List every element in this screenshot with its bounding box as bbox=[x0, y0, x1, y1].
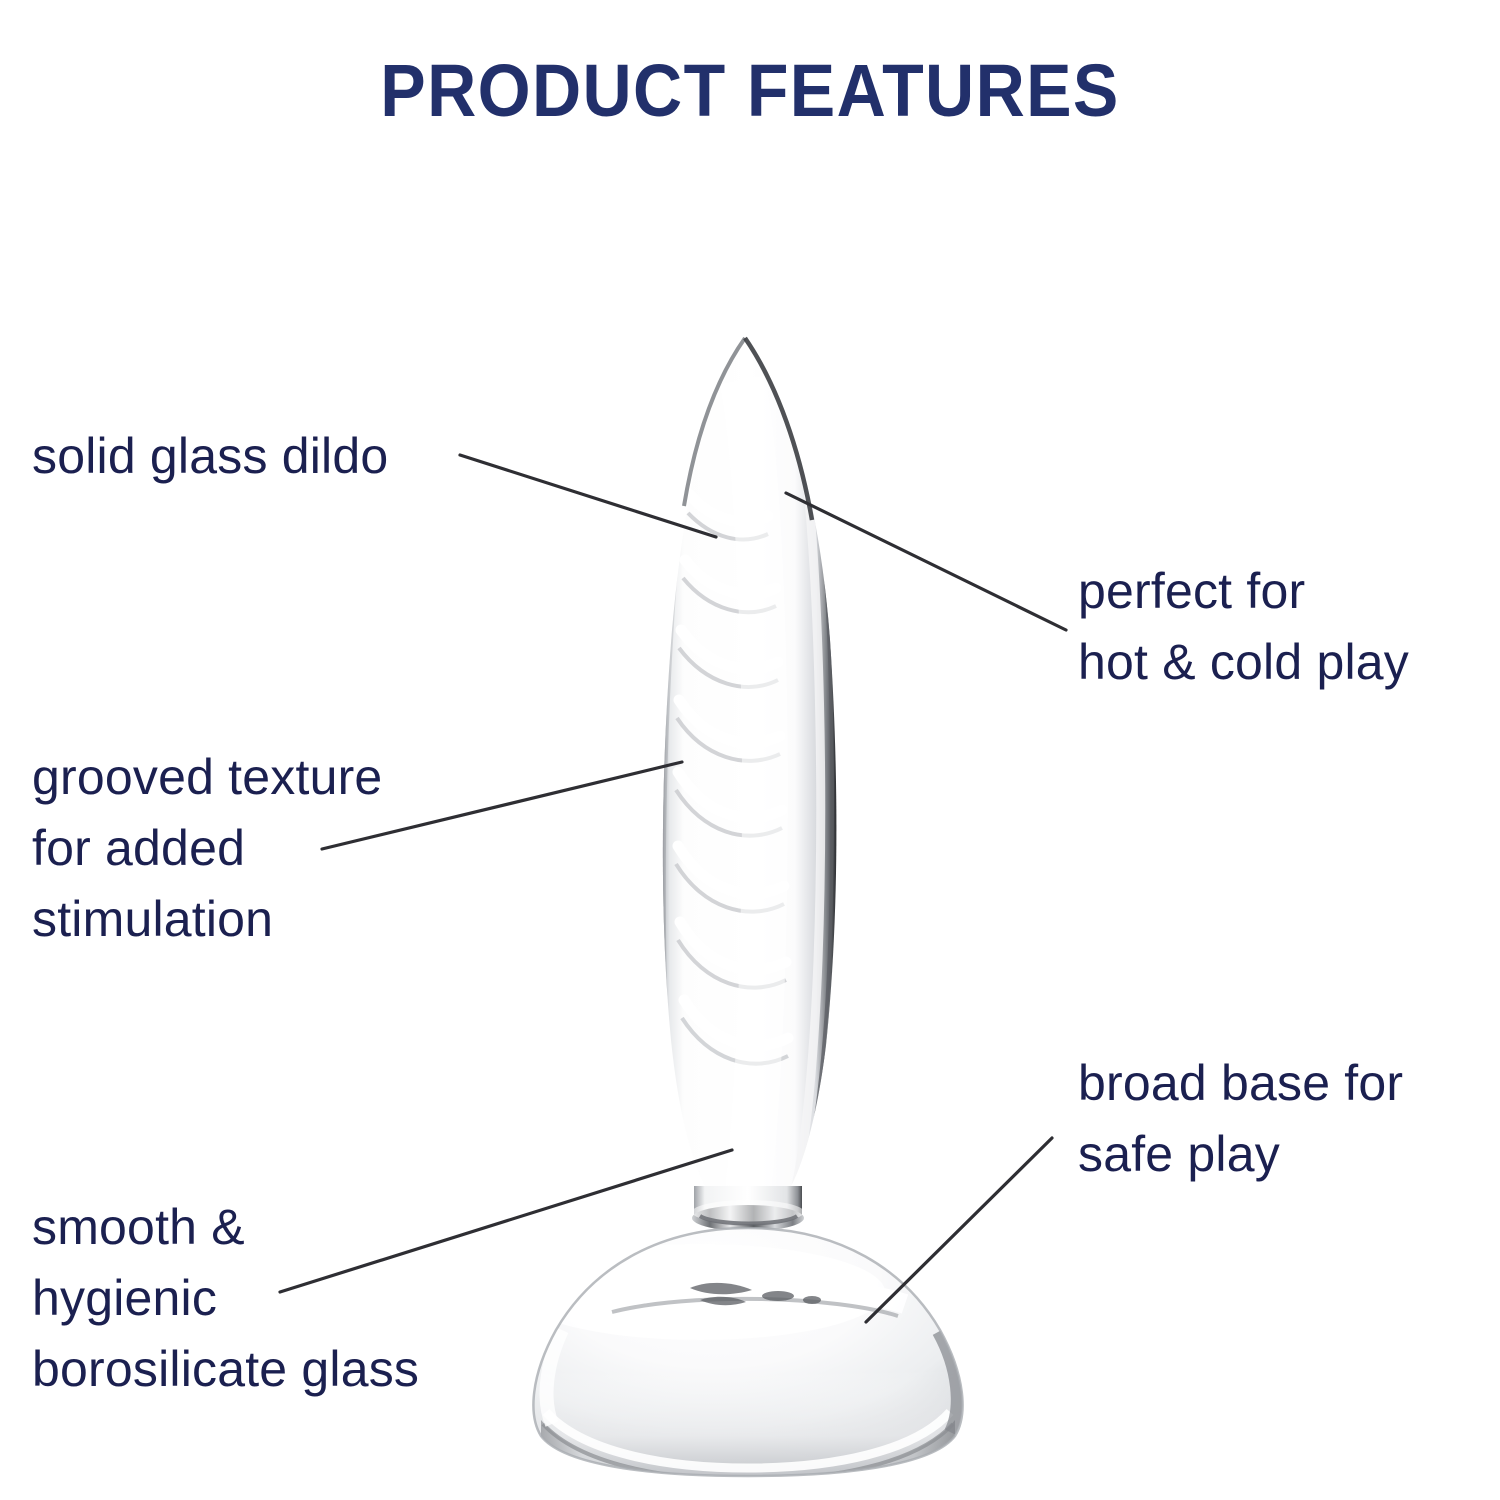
callout-label-solid-glass-dildo: solid glass dildo bbox=[32, 421, 388, 492]
infographic-canvas: PRODUCT FEATURES bbox=[0, 0, 1500, 1500]
callout-label-hot-cold-play: perfect for hot & cold play bbox=[1078, 556, 1409, 698]
leader-line-solid-glass-dildo bbox=[460, 455, 716, 537]
callout-label-grooved-texture: grooved texture for added stimulation bbox=[32, 742, 382, 955]
leader-line-broad-base bbox=[866, 1138, 1052, 1322]
callout-label-smooth-hygienic: smooth & hygienic borosilicate glass bbox=[32, 1192, 419, 1405]
leader-line-hot-cold-play bbox=[786, 493, 1066, 630]
callout-label-broad-base: broad base for safe play bbox=[1078, 1048, 1403, 1190]
